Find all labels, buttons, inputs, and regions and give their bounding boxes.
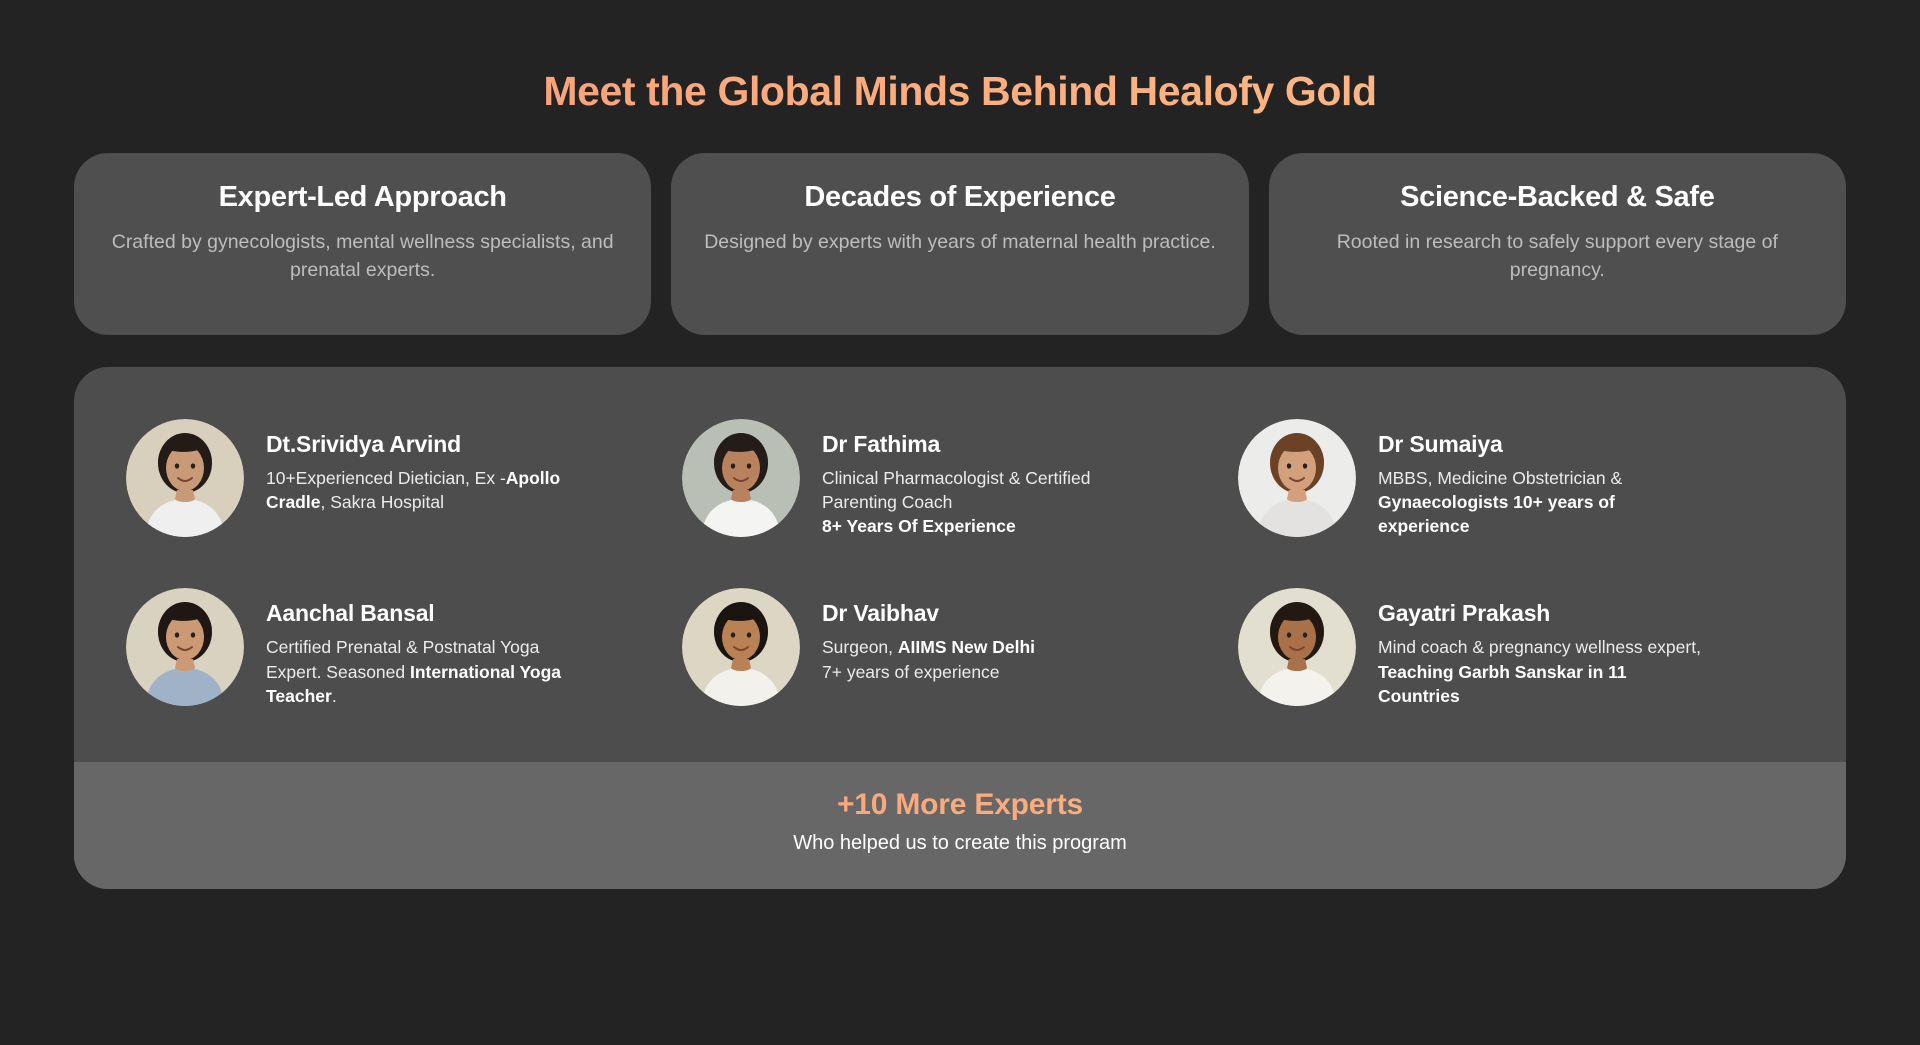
feature-card-science-backed: Science-Backed & Safe Rooted in research… — [1269, 153, 1846, 335]
feature-card-expert-led: Expert-Led Approach Crafted by gynecolog… — [74, 153, 651, 335]
page-root: Meet the Global Minds Behind Healofy Gol… — [0, 0, 1920, 1045]
expert-info: Dt.Srividya Arvind 10+Experienced Dietic… — [266, 419, 596, 514]
expert-card: Dr Sumaiya MBBS, Medicine Obstetrician &… — [1238, 419, 1794, 538]
expert-description: MBBS, Medicine Obstetrician & Gynaecolog… — [1378, 466, 1708, 538]
expert-info: Dr Fathima Clinical Pharmacologist & Cer… — [822, 419, 1152, 538]
portrait-sumaiya-avatar — [1238, 419, 1356, 537]
expert-info: Dr Sumaiya MBBS, Medicine Obstetrician &… — [1378, 419, 1708, 538]
feature-card-title: Expert-Led Approach — [100, 181, 625, 214]
expert-description: Mind coach & pregnancy wellness expert, … — [1378, 635, 1708, 707]
expert-info: Aanchal Bansal Certified Prenatal & Post… — [266, 588, 596, 707]
expert-name: Aanchal Bansal — [266, 600, 596, 627]
portrait-fathima-avatar — [682, 419, 800, 537]
expert-description: Clinical Pharmacologist & Certified Pare… — [822, 466, 1152, 538]
expert-card: Aanchal Bansal Certified Prenatal & Post… — [126, 588, 682, 707]
expert-info: Dr Vaibhav Surgeon, AIIMS New Delhi7+ ye… — [822, 588, 1035, 683]
expert-name: Dr Vaibhav — [822, 600, 1035, 627]
expert-card: Dr Vaibhav Surgeon, AIIMS New Delhi7+ ye… — [682, 588, 1238, 707]
feature-card-description: Designed by experts with years of matern… — [700, 229, 1220, 257]
experts-grid: Dt.Srividya Arvind 10+Experienced Dietic… — [74, 367, 1846, 762]
expert-name: Gayatri Prakash — [1378, 600, 1708, 627]
portrait-aanchal-avatar — [126, 588, 244, 706]
feature-card-decades-of-experience: Decades of Experience Designed by expert… — [671, 153, 1248, 335]
expert-description: Surgeon, AIIMS New Delhi7+ years of expe… — [822, 635, 1035, 683]
page-title: Meet the Global Minds Behind Healofy Gol… — [0, 0, 1920, 115]
expert-description: Certified Prenatal & Postnatal Yoga Expe… — [266, 635, 596, 707]
expert-card: Dt.Srividya Arvind 10+Experienced Dietic… — [126, 419, 682, 538]
expert-name: Dr Fathima — [822, 431, 1152, 458]
expert-info: Gayatri Prakash Mind coach & pregnancy w… — [1378, 588, 1708, 707]
feature-card-description: Rooted in research to safely support eve… — [1297, 229, 1817, 284]
feature-card-title: Science-Backed & Safe — [1295, 181, 1820, 214]
portrait-vaibhav-avatar — [682, 588, 800, 706]
expert-card: Dr Fathima Clinical Pharmacologist & Cer… — [682, 419, 1238, 538]
feature-card-title: Decades of Experience — [697, 181, 1222, 214]
portrait-gayatri-avatar — [1238, 588, 1356, 706]
expert-name: Dt.Srividya Arvind — [266, 431, 596, 458]
expert-description: 10+Experienced Dietician, Ex -Apollo Cra… — [266, 466, 596, 514]
expert-name: Dr Sumaiya — [1378, 431, 1708, 458]
more-experts-headline: +10 More Experts — [74, 788, 1846, 822]
portrait-srividya-avatar — [126, 419, 244, 537]
expert-card: Gayatri Prakash Mind coach & pregnancy w… — [1238, 588, 1794, 707]
more-experts-subtext: Who helped us to create this program — [74, 832, 1846, 855]
experts-footer: +10 More Experts Who helped us to create… — [74, 762, 1846, 889]
experts-panel: Dt.Srividya Arvind 10+Experienced Dietic… — [74, 367, 1846, 889]
feature-card-description: Crafted by gynecologists, mental wellnes… — [103, 229, 623, 284]
feature-cards-row: Expert-Led Approach Crafted by gynecolog… — [0, 153, 1920, 335]
